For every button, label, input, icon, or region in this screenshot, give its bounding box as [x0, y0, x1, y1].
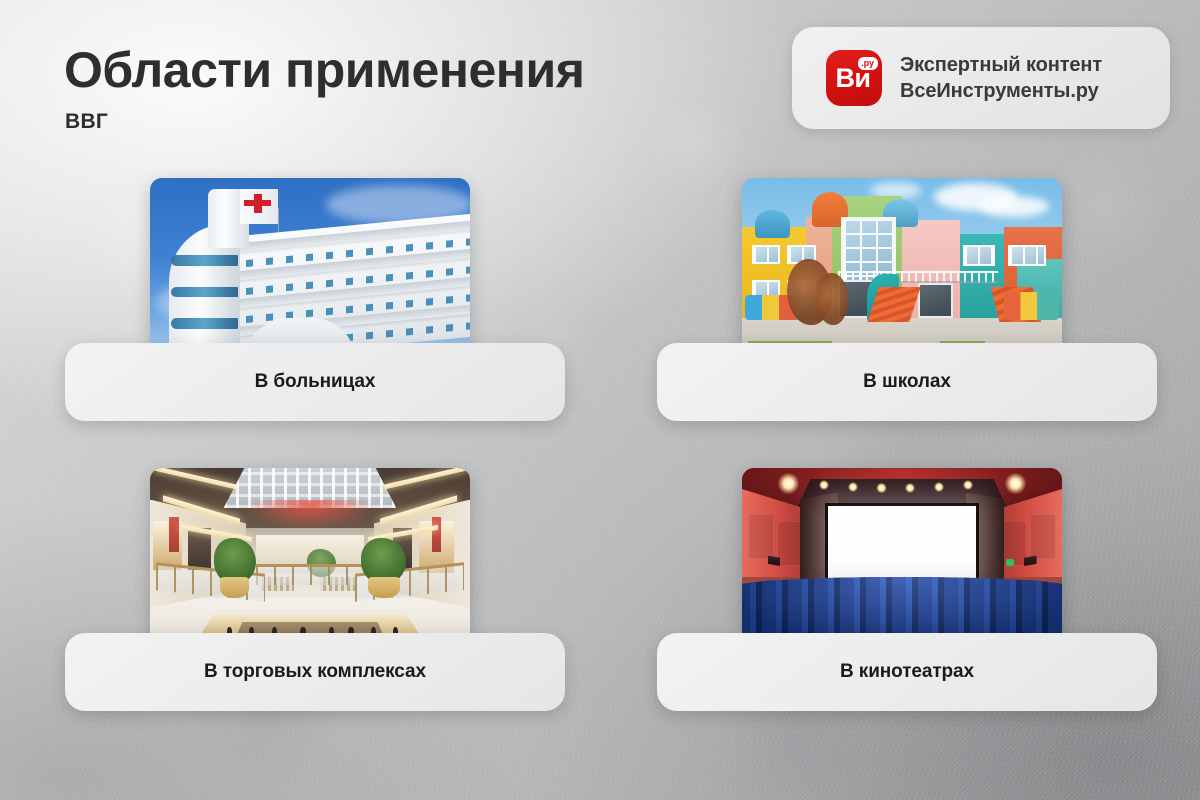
- brand-text-block: Экспертный контент ВсеИнструменты.ру: [900, 54, 1102, 103]
- cinema-illustration: [742, 468, 1062, 643]
- card-label-text: В торговых комплексах: [204, 661, 426, 683]
- logo-domain-superscript: .ру: [858, 57, 878, 70]
- brand-badge: Ви .ру Экспертный контент ВсеИнструменты…: [792, 27, 1170, 129]
- school-illustration: [742, 178, 1062, 353]
- brand-name: ВсеИнструменты.ру: [900, 80, 1102, 103]
- slide-canvas: Области применения ВВГ Ви .ру Экспертный…: [0, 0, 1200, 800]
- mall-illustration: [150, 468, 470, 643]
- vseinstrumenty-logo-icon: Ви .ру: [826, 50, 882, 106]
- card-image-mall: [150, 468, 470, 643]
- card-label-text: В больницах: [255, 371, 376, 393]
- hospital-illustration: [150, 178, 470, 353]
- card-label-school[interactable]: В школах: [657, 343, 1157, 421]
- brand-tagline: Экспертный контент: [900, 54, 1102, 77]
- card-label-text: В школах: [863, 371, 951, 393]
- card-image-school: [742, 178, 1062, 353]
- card-label-cinema[interactable]: В кинотеатрах: [657, 633, 1157, 711]
- exit-sign-icon: [1006, 559, 1014, 566]
- card-label-hospital[interactable]: В больницах: [65, 343, 565, 421]
- card-image-hospital: [150, 178, 470, 353]
- card-label-text: В кинотеатрах: [840, 661, 974, 683]
- card-label-mall[interactable]: В торговых комплексах: [65, 633, 565, 711]
- cinema-screen: [825, 503, 979, 582]
- card-image-cinema: [742, 468, 1062, 643]
- page-subtitle: ВВГ: [65, 110, 108, 134]
- page-title: Области применения: [64, 44, 584, 97]
